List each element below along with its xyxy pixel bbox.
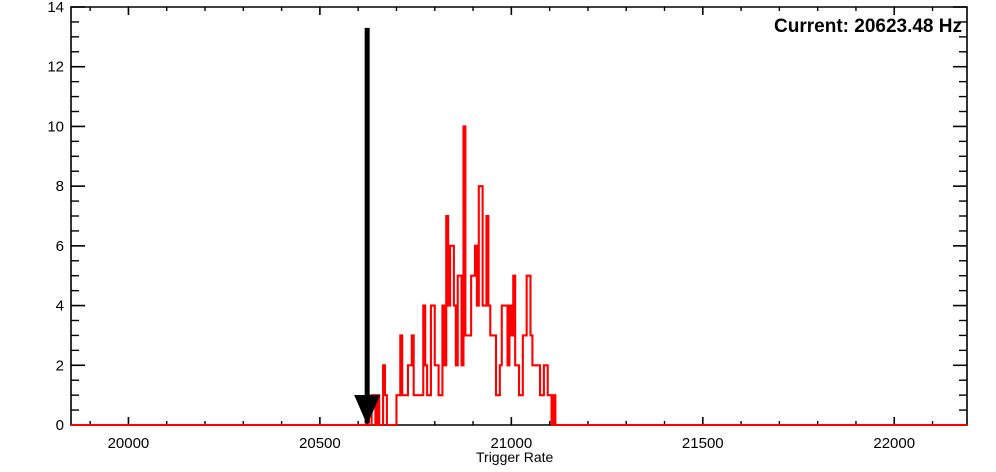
y-tick-label: 8	[56, 178, 64, 195]
y-tick-label: 2	[56, 357, 64, 374]
y-tick-label: 10	[47, 118, 64, 135]
y-tick-label: 4	[56, 298, 64, 315]
x-tick-label: 20000	[108, 435, 150, 452]
x-tick-label: 22000	[873, 435, 915, 452]
x-axis-title: Trigger Rate	[476, 449, 553, 465]
y-tick-label: 14	[47, 0, 64, 16]
y-tick-label: 6	[56, 238, 64, 255]
y-tick-label: 12	[47, 59, 64, 76]
current-rate-label: Current: 20623.48 Hz	[774, 16, 962, 38]
x-tick-label: 21500	[682, 435, 724, 452]
histogram-svg: 2000020500210002150022000 02468101214	[0, 0, 996, 472]
y-tick-label: 0	[56, 417, 64, 434]
plot-canvas: 2000020500210002150022000 02468101214 Cu…	[0, 0, 996, 472]
svg-background	[0, 0, 996, 472]
x-tick-label: 20500	[299, 435, 341, 452]
